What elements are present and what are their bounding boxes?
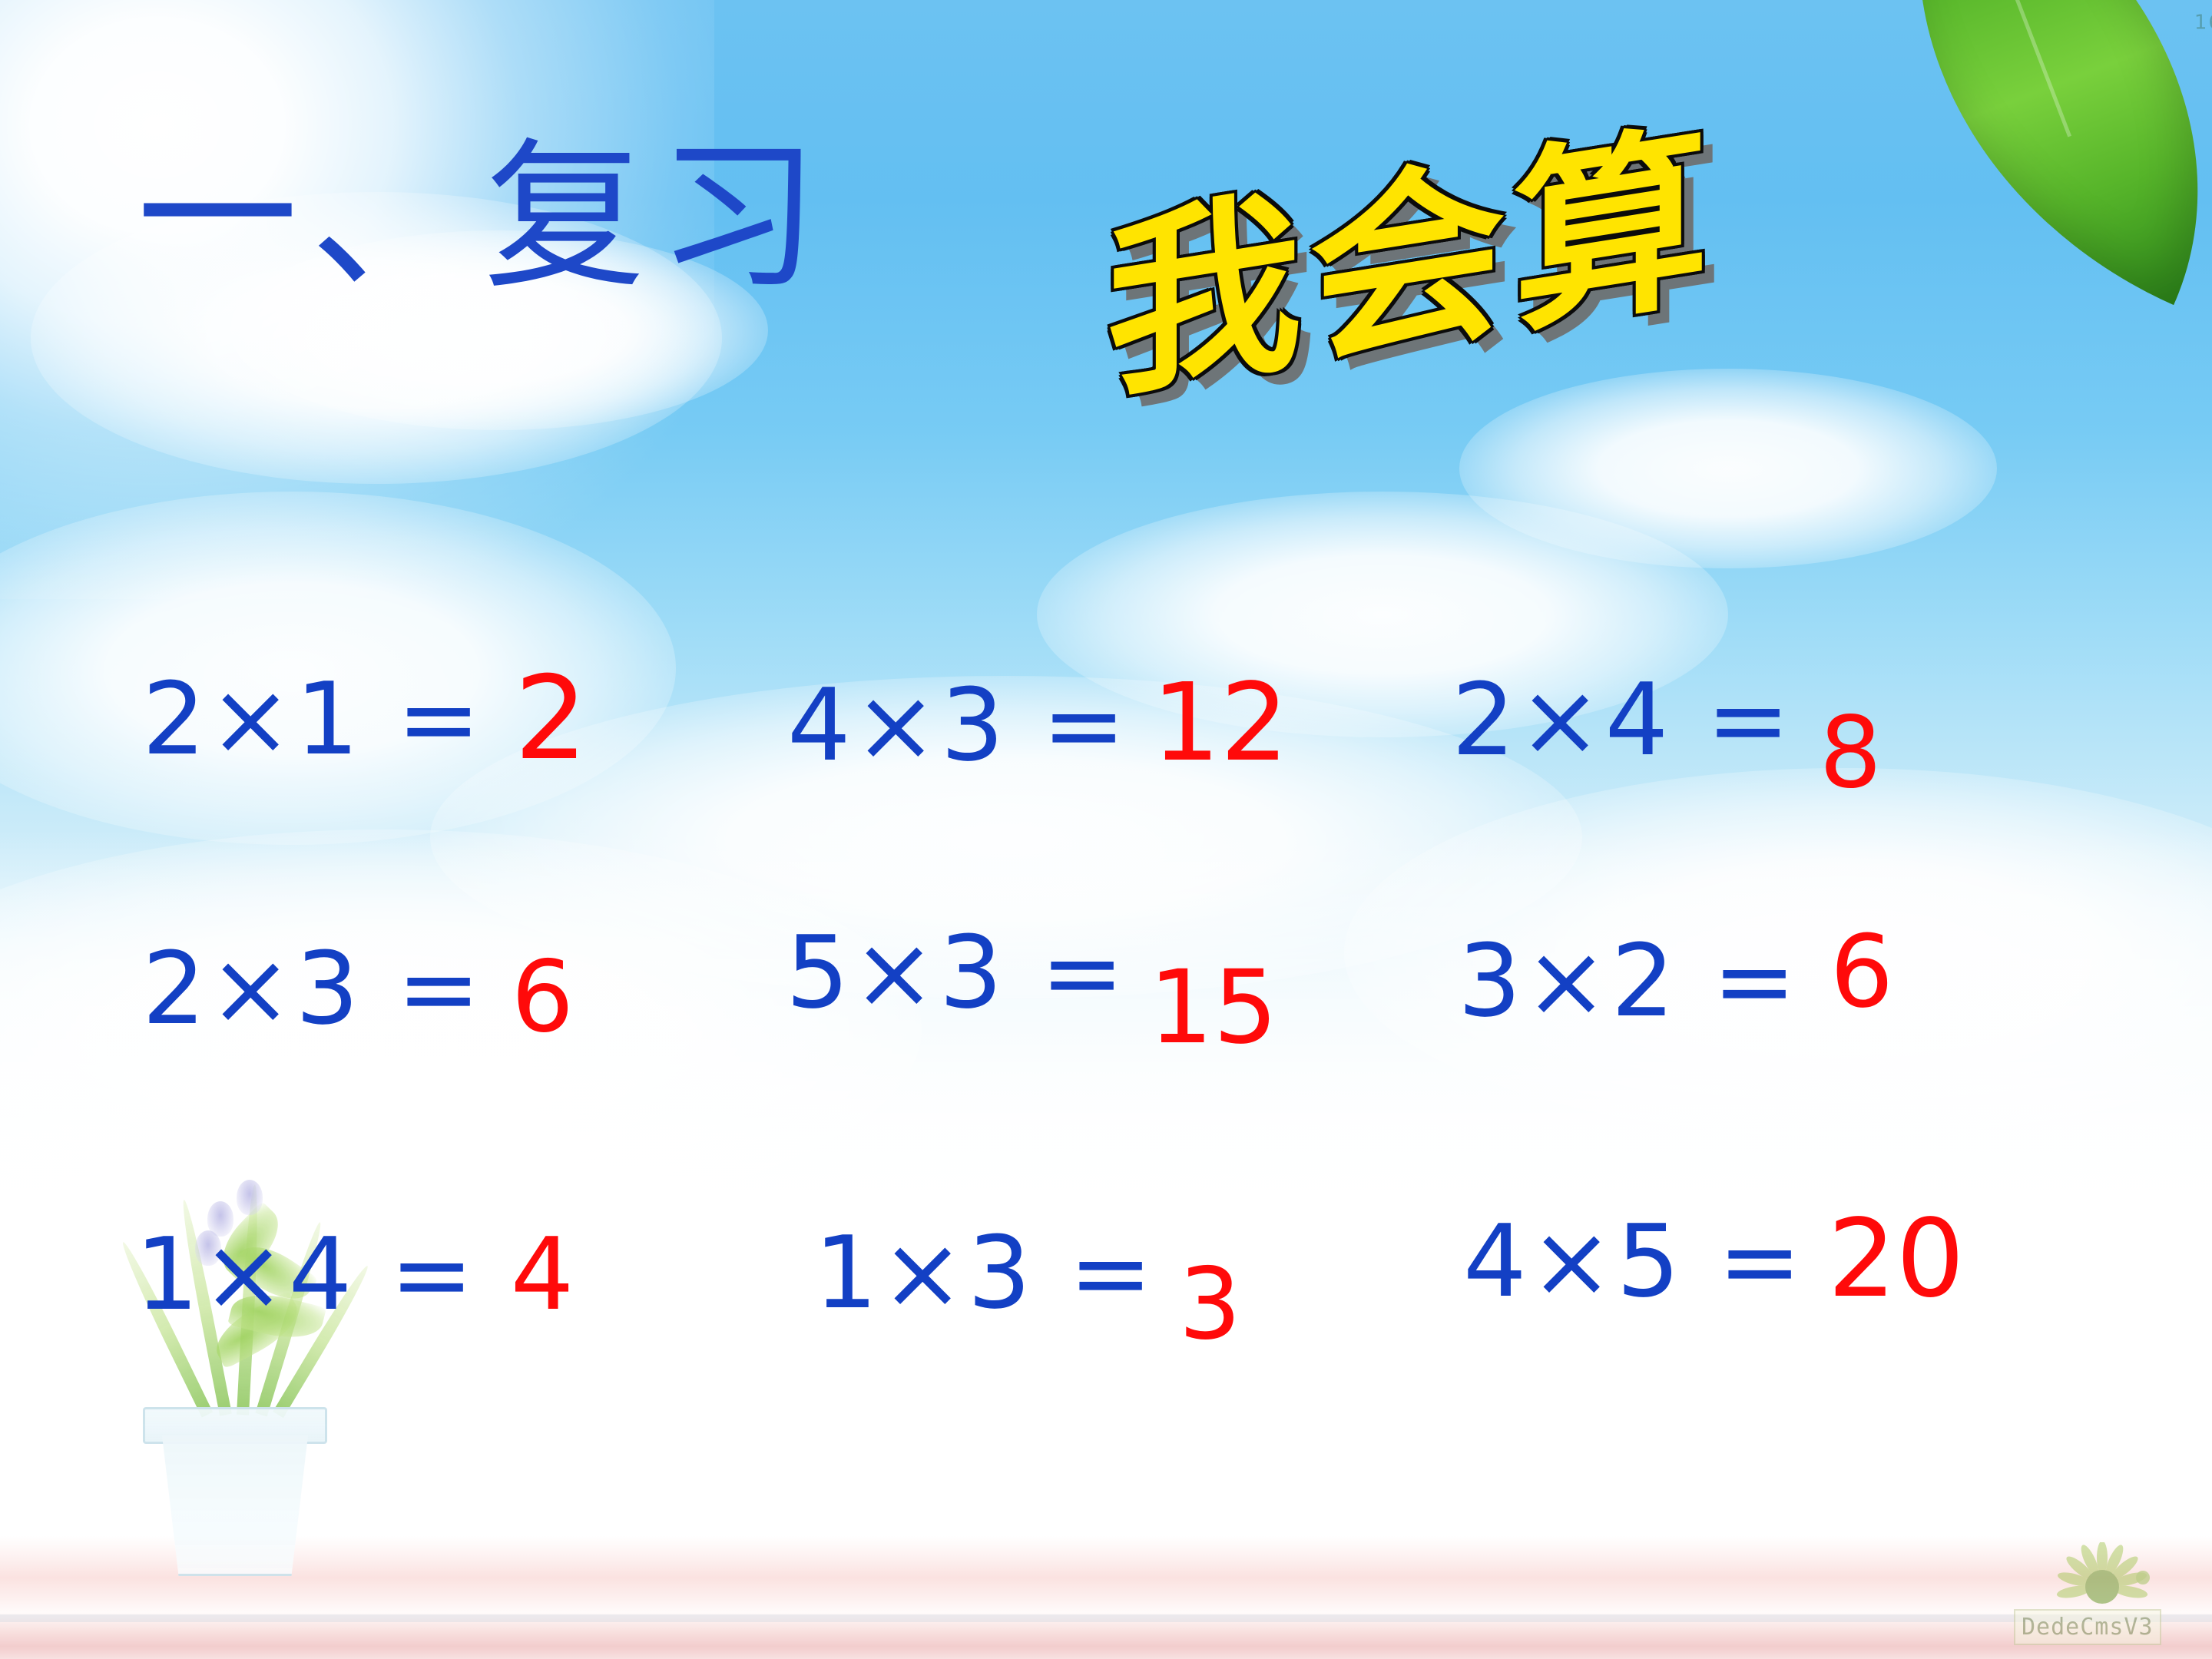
exercise-expression: 4×3 = bbox=[787, 667, 1129, 783]
exercise-answer: 3 bbox=[1179, 1247, 1241, 1362]
exercise-answer: 2 bbox=[515, 652, 588, 786]
exercise-item: 5×3 =15 bbox=[786, 922, 1278, 1023]
exercise-item: 2×4 =8 bbox=[1452, 670, 1882, 770]
exercise-answer: 15 bbox=[1149, 949, 1278, 1067]
exercise-expression: 1×4 = bbox=[135, 1216, 477, 1333]
exercise-item: 1×3 =3 bbox=[814, 1223, 1241, 1323]
exercise-answer: 6 bbox=[1830, 913, 1894, 1030]
exercise-item: 4×5 =20 bbox=[1463, 1206, 1965, 1313]
exercise-expression: 2×4 = bbox=[1452, 661, 1793, 778]
exercise-answer: 12 bbox=[1152, 661, 1289, 786]
dedecms-watermark: DedeCmsV3 bbox=[2008, 1542, 2192, 1650]
exercise-expression: 2×3 = bbox=[142, 930, 484, 1047]
exercise-expression: 4×5 = bbox=[1463, 1203, 1805, 1320]
exercise-item: 2×1 =2 bbox=[142, 657, 588, 772]
exercise-expression: 2×1 = bbox=[142, 661, 484, 777]
exercise-grid: 2×1 =2 4×3 =12 2×4 =8 2×3 =6 5×3 =15 3×2… bbox=[0, 0, 2212, 1659]
dedecms-label: DedeCmsV3 bbox=[2014, 1609, 2161, 1645]
presentation-slide: NetEase 163.com 一、复习 我会算 2×1 =2 4×3 =12 … bbox=[0, 0, 2212, 1659]
exercise-expression: 1×3 = bbox=[814, 1214, 1156, 1331]
exercise-answer: 20 bbox=[1828, 1197, 1965, 1322]
exercise-item: 4×3 =12 bbox=[787, 670, 1289, 777]
exercise-item: 2×3 =6 bbox=[142, 939, 574, 1039]
exercise-expression: 5×3 = bbox=[786, 914, 1128, 1031]
exercise-item: 3×2 =6 bbox=[1458, 931, 1893, 1031]
exercise-answer: 4 bbox=[511, 1216, 575, 1333]
exercise-answer: 6 bbox=[512, 940, 574, 1055]
exercise-item: 1×4 =4 bbox=[135, 1224, 574, 1324]
exercise-expression: 3×2 = bbox=[1458, 922, 1800, 1039]
exercise-answer: 8 bbox=[1820, 696, 1882, 810]
